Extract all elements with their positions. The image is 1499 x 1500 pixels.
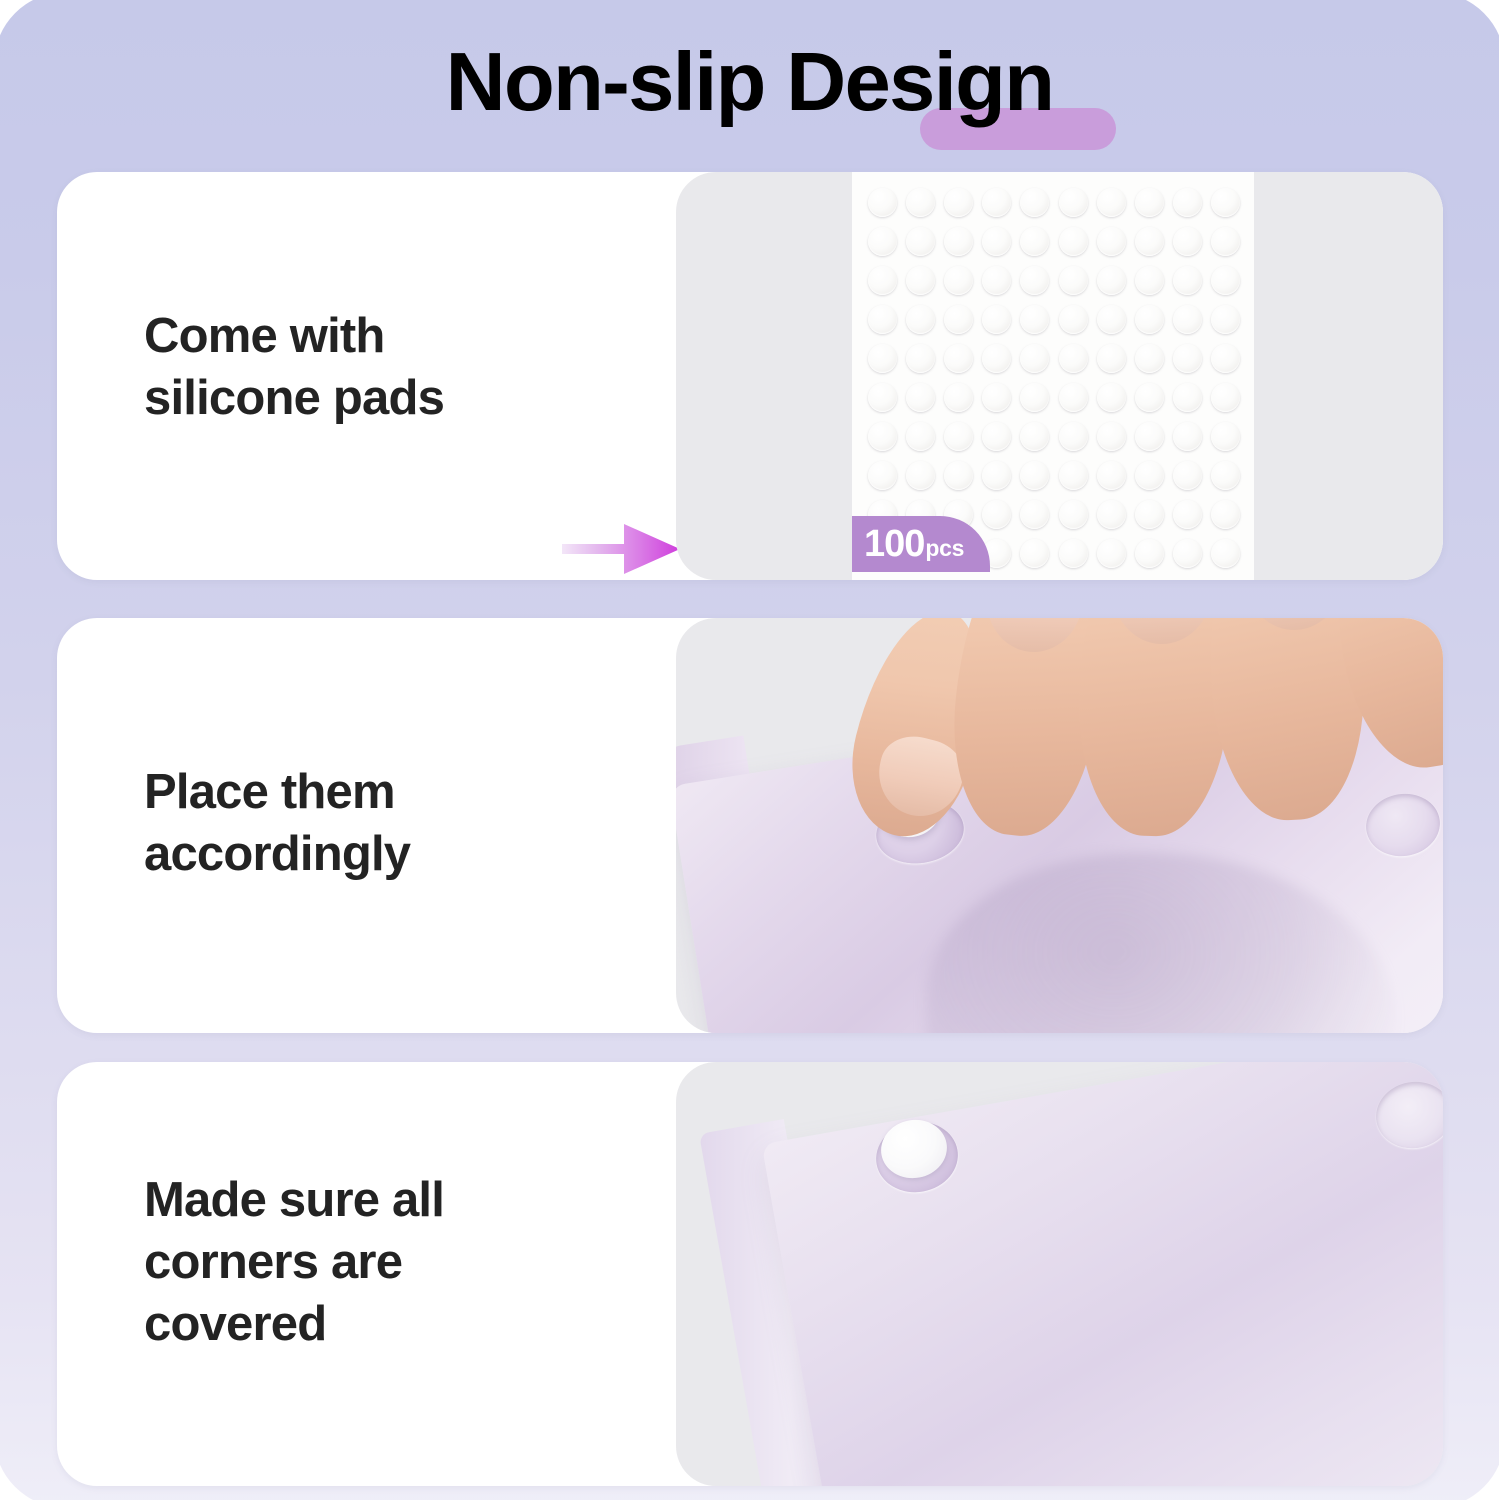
silicone-pad-dot (1173, 266, 1202, 295)
silicone-pad-dot (868, 305, 897, 334)
pcs-count-number: 100 (864, 525, 924, 563)
hand-placing-pad-photo (676, 618, 1443, 1033)
card-image-panel (676, 1062, 1443, 1486)
silicone-pad-dot (1135, 461, 1164, 490)
silicone-pad-dot (1211, 539, 1240, 568)
hand-photo (866, 618, 1443, 868)
silicone-pad-dot (944, 461, 973, 490)
silicone-pad-dot (1020, 500, 1049, 529)
silicone-pad-dot (1097, 227, 1126, 256)
silicone-pad-dot (944, 188, 973, 217)
silicone-pad-dot (906, 227, 935, 256)
silicone-pad-dot (1020, 383, 1049, 412)
silicone-pad-dot (1020, 305, 1049, 334)
silicone-pad-dot (1020, 227, 1049, 256)
silicone-pad-dot (1020, 461, 1049, 490)
infographic-page: Non-slip Design Come with silicone pads … (0, 0, 1499, 1500)
silicone-pad-dot (1211, 188, 1240, 217)
silicone-pad-dot (1059, 461, 1088, 490)
silicone-pad-dot (1059, 422, 1088, 451)
silicone-pad-dot (1059, 227, 1088, 256)
silicone-pad-dot (906, 188, 935, 217)
feature-card-place-pads: Place them accordingly (57, 618, 1443, 1033)
silicone-pad-dot (906, 344, 935, 373)
silicone-pad-dot (1020, 539, 1049, 568)
silicone-pad-dot (1059, 266, 1088, 295)
silicone-pad-dot (906, 305, 935, 334)
silicone-pad-dot (982, 344, 1011, 373)
silicone-pad-dot (1173, 539, 1202, 568)
silicone-pad-dot (982, 500, 1011, 529)
card-image-panel: 100 pcs (676, 172, 1443, 580)
card-label: Made sure all corners are covered (144, 1169, 444, 1355)
silicone-pad-dot (1135, 266, 1164, 295)
feature-card-silicone-pads: Come with silicone pads 100 pcs (57, 172, 1443, 580)
silicone-pad-dot (1211, 227, 1240, 256)
silicone-pad-dot (1097, 266, 1126, 295)
silicone-pad-dot (944, 344, 973, 373)
silicone-pad-dot (868, 188, 897, 217)
silicone-pad-dot (906, 266, 935, 295)
card-label: Come with silicone pads (144, 305, 444, 429)
silicone-pad-dot (868, 422, 897, 451)
silicone-pad-dot (982, 266, 1011, 295)
silicone-pad-dot (1020, 344, 1049, 373)
silicone-pad-dot (1211, 422, 1240, 451)
silicone-pad-dot (1059, 539, 1088, 568)
silicone-pad-dot (1097, 500, 1126, 529)
silicone-pad-dot (1173, 188, 1202, 217)
silicone-pad-dot (868, 461, 897, 490)
pcs-count-unit: pcs (925, 537, 964, 560)
feature-card-corners-covered: Made sure all corners are covered (57, 1062, 1443, 1486)
silicone-pad-dot (1097, 383, 1126, 412)
silicone-pad-dot (868, 266, 897, 295)
silicone-pad-dot (1097, 188, 1126, 217)
page-title: Non-slip Design (0, 20, 1499, 135)
silicone-pad-dot (1059, 383, 1088, 412)
silicone-pad-dot (1173, 461, 1202, 490)
silicone-pad-dot (1097, 305, 1126, 334)
silicone-pad-dot (982, 188, 1011, 217)
silicone-pad-dot (1173, 305, 1202, 334)
silicone-pad-dot (944, 422, 973, 451)
silicone-pad-dot (1059, 188, 1088, 217)
silicone-pad-dot (906, 422, 935, 451)
silicone-pad-dot (1173, 500, 1202, 529)
silicone-pad-dot (1097, 461, 1126, 490)
silicone-pad-dot (1173, 383, 1202, 412)
silicone-pad-sheet: 100 pcs (852, 172, 1254, 580)
silicone-pad-dot (1211, 461, 1240, 490)
silicone-pad-dot (1020, 266, 1049, 295)
silicone-pad-dot (1135, 188, 1164, 217)
silicone-pad-dot (1135, 422, 1164, 451)
case-corner-photo (676, 1062, 1443, 1486)
silicone-pad-dot (944, 266, 973, 295)
silicone-pad-dot (944, 305, 973, 334)
silicone-pad-dot (982, 461, 1011, 490)
silicone-pad-dot (868, 344, 897, 373)
silicone-pad-dot (1135, 500, 1164, 529)
silicone-pad-dot (1020, 188, 1049, 217)
silicone-pad-dot (1097, 422, 1126, 451)
card-image-panel (676, 618, 1443, 1033)
silicone-pad-dot (1097, 539, 1126, 568)
silicone-pad-dot (1135, 344, 1164, 373)
silicone-pad-dot (1135, 539, 1164, 568)
silicone-pad-dot (982, 422, 1011, 451)
silicone-pad-dot (906, 461, 935, 490)
silicone-pad-dot (944, 383, 973, 412)
silicone-pad-dot (1097, 344, 1126, 373)
silicone-pad-dot (1020, 422, 1049, 451)
silicone-pad-dot (1173, 422, 1202, 451)
laptop-case-body (762, 1062, 1443, 1486)
silicone-pad-dot (1135, 227, 1164, 256)
silicone-pad-dot (1211, 305, 1240, 334)
silicone-pad-dot (982, 227, 1011, 256)
silicone-pad-dot (1135, 305, 1164, 334)
silicone-pad-dot (868, 383, 897, 412)
silicone-pad-dot (944, 227, 973, 256)
silicone-pad-dot (982, 305, 1011, 334)
silicone-pad-dot (1211, 383, 1240, 412)
silicone-pad-dot (906, 383, 935, 412)
silicone-pad-dot (1211, 266, 1240, 295)
card-label: Place them accordingly (144, 761, 410, 885)
silicone-pad-dot (1059, 305, 1088, 334)
arrow-right-icon (562, 520, 680, 578)
silicone-pad-dot (1059, 500, 1088, 529)
silicone-pad-grid (863, 183, 1245, 573)
silicone-pad-dot (1211, 344, 1240, 373)
silicone-pad-dot (868, 227, 897, 256)
silicone-pad-dot (982, 383, 1011, 412)
silicone-pad-dot (1135, 383, 1164, 412)
silicone-pad-dot (1211, 500, 1240, 529)
title-text: Non-slip Design (0, 34, 1499, 130)
silicone-pad-dot (1173, 227, 1202, 256)
silicone-pad-dot (1059, 344, 1088, 373)
silicone-pad-dot (1173, 344, 1202, 373)
